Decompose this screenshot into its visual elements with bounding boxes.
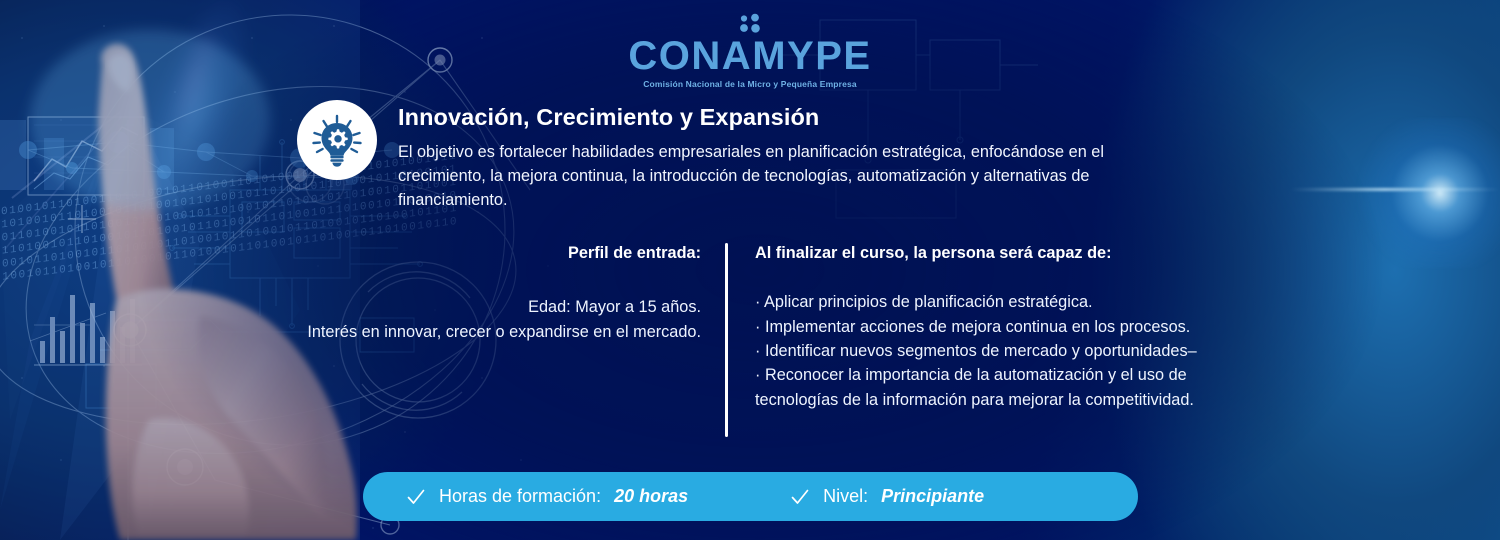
level-label: Nivel: bbox=[823, 486, 868, 507]
check-icon bbox=[406, 487, 426, 507]
hours-item: Horas de formación: 20 horas bbox=[406, 486, 688, 507]
logo-wordmark: CONAMYPE bbox=[628, 36, 871, 76]
level-value: Principiante bbox=[881, 486, 984, 507]
outcomes-body: · Aplicar principios de planificación es… bbox=[755, 290, 1197, 412]
entry-profile-heading: Perfil de entrada: bbox=[250, 243, 701, 264]
entry-profile-line: Edad: Mayor a 15 años. bbox=[250, 295, 701, 319]
course-header: Innovación, Crecimiento y Expansión El o… bbox=[297, 100, 1257, 213]
outcome-item: · Aplicar principios de planificación es… bbox=[755, 290, 1197, 314]
hours-label: Horas de formación: bbox=[439, 486, 601, 507]
course-description-line: financiamiento. bbox=[398, 188, 1104, 212]
course-header-text: Innovación, Crecimiento y Expansión El o… bbox=[398, 100, 1104, 213]
outcome-item: · Identificar nuevos segmentos de mercad… bbox=[755, 339, 1197, 363]
level-item: Nivel: Principiante bbox=[790, 486, 984, 507]
outcomes-heading: Al finalizar el curso, la persona será c… bbox=[755, 243, 1197, 264]
course-description: El objetivo es fortalecer habilidades em… bbox=[398, 140, 1104, 212]
banner-content: CONAMYPE Comisión Nacional de la Micro y… bbox=[0, 0, 1500, 540]
hours-value: 20 horas bbox=[614, 486, 688, 507]
check-icon bbox=[790, 487, 810, 507]
logo-tagline: Comisión Nacional de la Micro y Pequeña … bbox=[643, 79, 856, 89]
course-meta-pill: Horas de formación: 20 horas Nivel: Prin… bbox=[363, 472, 1138, 521]
course-icon-badge bbox=[297, 100, 377, 180]
conamype-logo: CONAMYPE Comisión Nacional de la Micro y… bbox=[0, 13, 1500, 89]
entry-profile-column: Perfil de entrada: Edad: Mayor a 15 años… bbox=[250, 243, 725, 437]
outcome-item: · Reconocer la importancia de la automat… bbox=[755, 363, 1197, 387]
outcomes-column: Al finalizar el curso, la persona será c… bbox=[728, 243, 1197, 437]
outcome-item: tecnologías de la información para mejor… bbox=[755, 388, 1197, 412]
lightbulb-gear-icon bbox=[307, 110, 367, 170]
course-description-line: El objetivo es fortalecer habilidades em… bbox=[398, 140, 1104, 164]
outcome-item: · Implementar acciones de mejora continu… bbox=[755, 315, 1197, 339]
four-dots-icon bbox=[737, 13, 763, 33]
course-title: Innovación, Crecimiento y Expansión bbox=[398, 103, 1104, 131]
entry-profile-line: Interés en innovar, crecer o expandirse … bbox=[250, 320, 701, 344]
course-description-line: crecimiento, la mejora continua, la intr… bbox=[398, 164, 1104, 188]
entry-profile-body: Edad: Mayor a 15 años. Interés en innova… bbox=[250, 295, 701, 344]
details-columns: Perfil de entrada: Edad: Mayor a 15 años… bbox=[250, 243, 1310, 437]
course-banner: 0100101101001101010010110100110101001011… bbox=[0, 0, 1500, 540]
